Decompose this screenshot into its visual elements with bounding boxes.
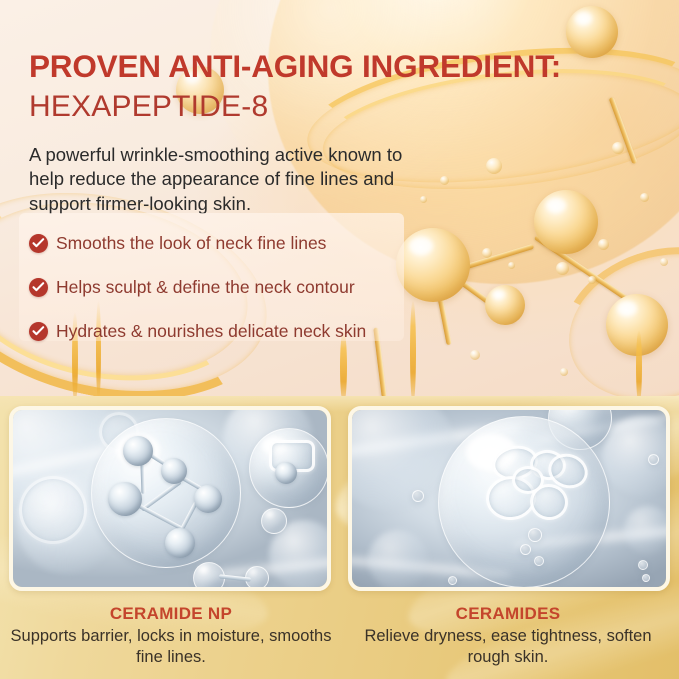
small-droplet <box>412 490 424 502</box>
molecule-sphere-5 <box>566 6 618 58</box>
bg-bubble-c <box>624 506 666 554</box>
hero-section: PROVEN ANTI-AGING INGREDIENT: HEXAPEPTID… <box>0 0 679 398</box>
molecule-sphere-2 <box>534 190 598 254</box>
serum-droplet-3 <box>556 262 569 275</box>
serum-droplet-2 <box>482 248 492 258</box>
small-droplet <box>638 560 648 570</box>
page-title: PROVEN ANTI-AGING INGREDIENT: <box>29 50 561 83</box>
ceramides-caption: CERAMIDES Relieve dryness, ease tightnes… <box>343 604 673 667</box>
secondary-atom <box>275 462 297 484</box>
molecule-atom <box>161 458 187 484</box>
molecule-atom <box>194 485 222 513</box>
small-droplet <box>534 556 544 566</box>
ceramides-water-bubble-image <box>352 410 666 587</box>
ceramides-image-card <box>348 406 670 591</box>
product-infographic: PROVEN ANTI-AGING INGREDIENT: HEXAPEPTID… <box>0 0 679 679</box>
check-circle-icon <box>29 322 48 341</box>
serum-droplet-11 <box>470 350 480 360</box>
ceramide-np-image-card <box>9 406 331 591</box>
serum-droplet-4 <box>588 276 596 284</box>
page-subtitle: HEXAPEPTIDE-8 <box>29 91 268 123</box>
serum-droplet-12 <box>560 368 568 376</box>
molecule-atom <box>165 528 195 558</box>
molecule-atom <box>123 436 153 466</box>
serum-droplet-7 <box>440 176 449 185</box>
ingredient-image-panels <box>0 396 679 596</box>
serum-droplet-5 <box>598 239 609 250</box>
benefit-label: Hydrates & nourishes delicate neck skin <box>56 321 366 341</box>
card-title: CERAMIDE NP <box>6 604 336 624</box>
serum-droplet-1 <box>486 158 502 174</box>
small-droplet <box>648 454 659 465</box>
small-droplet <box>642 574 650 582</box>
serum-droplet-8 <box>508 262 515 269</box>
bg-ring-a <box>19 476 87 544</box>
serum-droplet-10 <box>660 258 668 266</box>
benefits-list: Smooths the look of neck fine lines Help… <box>29 224 429 356</box>
serum-strand-5 <box>636 330 642 398</box>
molecule-sphere-3 <box>485 285 525 325</box>
card-description: Relieve dryness, ease tightness, soften … <box>343 626 673 666</box>
vesicle-ring <box>512 466 544 494</box>
serum-droplet-6 <box>640 193 649 202</box>
small-droplet <box>261 508 287 534</box>
list-item: Helps sculpt & define the neck contour <box>29 268 429 306</box>
molecule-atom <box>108 482 142 516</box>
bg-bubble-d <box>368 530 428 587</box>
small-droplet <box>528 528 542 542</box>
check-circle-icon <box>29 278 48 297</box>
benefit-label: Smooths the look of neck fine lines <box>56 233 326 253</box>
small-droplet <box>448 576 457 585</box>
card-description: Supports barrier, locks in moisture, smo… <box>6 626 336 666</box>
ceramide-np-molecule-bubble-image <box>13 410 327 587</box>
intro-paragraph: A powerful wrinkle-smoothing active know… <box>29 143 429 217</box>
small-droplet <box>520 544 531 555</box>
check-circle-icon <box>29 234 48 253</box>
card-title: CERAMIDES <box>343 604 673 624</box>
benefit-label: Helps sculpt & define the neck contour <box>56 277 355 297</box>
ceramide-np-caption: CERAMIDE NP Supports barrier, locks in m… <box>6 604 336 667</box>
list-item: Hydrates & nourishes delicate neck skin <box>29 312 429 350</box>
list-item: Smooths the look of neck fine lines <box>29 224 429 262</box>
serum-droplet-13 <box>612 142 624 154</box>
